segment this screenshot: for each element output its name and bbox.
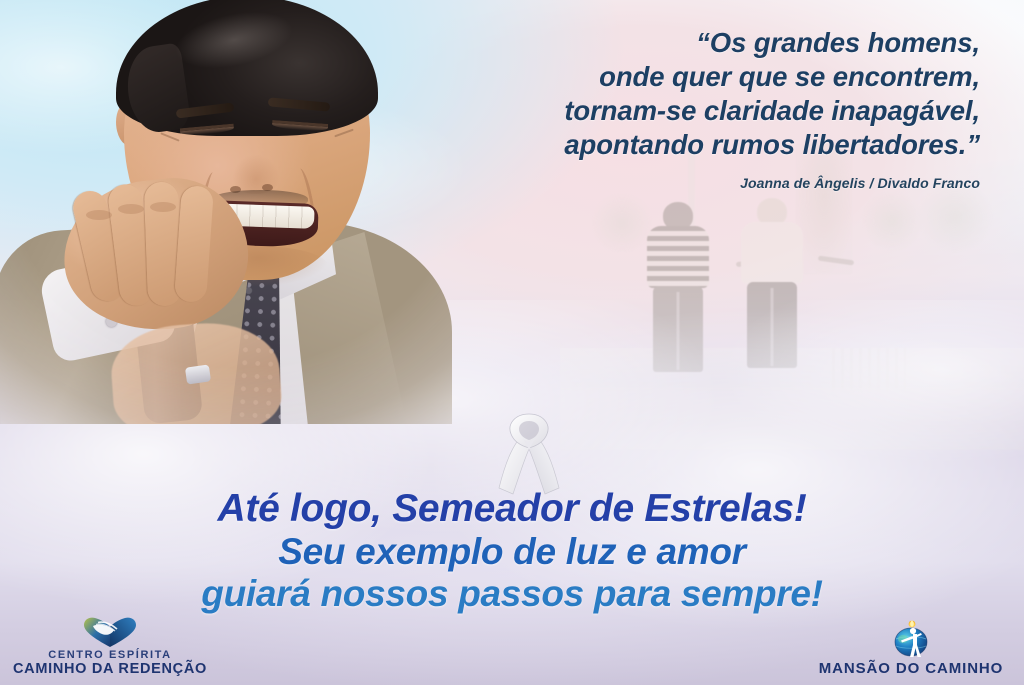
logo-right-line-1: MANSÃO DO CAMINHO xyxy=(808,661,1014,677)
quote-line-2: onde quer que se encontrem, xyxy=(360,60,980,94)
fence-shape xyxy=(832,348,906,392)
logo-centro-espirita: CENTRO ESPÍRITA CAMINHO DA REDENÇÃO xyxy=(12,616,208,677)
finger-ring xyxy=(185,364,211,384)
logo-left-line-2: CAMINHO DA REDENÇÃO xyxy=(12,662,208,677)
ground-shape xyxy=(560,388,1024,450)
headline-line-2: Seu exemplo de luz e amor xyxy=(0,531,1024,573)
white-ribbon-icon xyxy=(493,408,565,496)
globe-figure-logo-icon xyxy=(887,619,935,659)
headline-block: Até logo, Semeador de Estrelas! Seu exem… xyxy=(0,487,1024,615)
background-photo-two-people-walking xyxy=(560,150,1024,450)
quote-block: “Os grandes homens, onde quer que se enc… xyxy=(360,26,980,192)
figure-torso xyxy=(647,226,709,288)
quote-line-4: apontando rumos libertadores.” xyxy=(360,128,980,162)
memorial-banner: “Os grandes homens, onde quer que se enc… xyxy=(0,0,1024,685)
headline-line-1: Até logo, Semeador de Estrelas! xyxy=(0,487,1024,531)
logo-mansao-do-caminho: MANSÃO DO CAMINHO xyxy=(808,619,1014,677)
hands-heart-logo-icon xyxy=(81,616,139,648)
quote-attribution: Joanna de Ângelis / Divaldo Franco xyxy=(360,174,980,192)
figure-legs xyxy=(653,286,703,372)
headline-line-3: guiará nossos passos para sempre! xyxy=(0,573,1024,615)
memorial-ribbon xyxy=(493,408,565,496)
knuckle xyxy=(150,202,176,212)
quote-line-1: “Os grandes homens, xyxy=(360,26,980,60)
palm-shape xyxy=(860,190,924,252)
figure-torso xyxy=(741,222,803,284)
knuckle xyxy=(86,210,112,220)
knuckle xyxy=(118,204,144,214)
quote-line-3: tornam-se claridade inapagável, xyxy=(360,94,980,128)
figure-legs xyxy=(747,282,797,368)
palm-shape xyxy=(590,192,654,254)
